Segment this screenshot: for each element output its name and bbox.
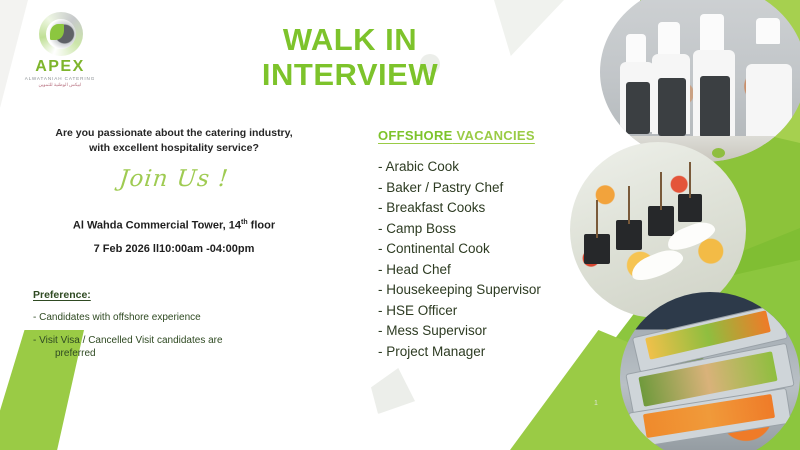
page-title-line2: INTERVIEW [210, 57, 490, 92]
vacancies-section: OFFSHORE VACANCIES - Arabic Cook - Baker… [378, 128, 608, 362]
logo-tagline-arabic: ابيكس الوطنية للتموين [18, 82, 102, 88]
intro-text: Are you passionate about the catering in… [24, 126, 324, 156]
intro-line-2: with excellent hospitality service? [24, 141, 324, 156]
logo-tagline: ALWATANIAH CATERING [18, 76, 102, 81]
list-item: - Continental Cook [378, 239, 608, 260]
slide-canvas: APEX ALWATANIAH CATERING ابيكس الوطنية ل… [0, 0, 800, 450]
page-title-line1: WALK IN [210, 22, 490, 57]
vacancies-title-bold: OFFSHORE [378, 128, 453, 143]
page-number: 1 [594, 400, 598, 407]
logo-wordmark: APEX [18, 59, 102, 75]
list-item: - Mess Supervisor [378, 321, 608, 342]
preference-title: Preference: [33, 289, 323, 301]
preference-item: - Visit Visa / Cancelled Visit candidate… [33, 334, 323, 360]
venue-ordinal: th [241, 219, 248, 226]
list-item: - Project Manager [378, 342, 608, 363]
chefs-photo [600, 0, 800, 162]
apex-logo: APEX ALWATANIAH CATERING ابيكس الوطنية ل… [18, 12, 102, 96]
preference-item: - Candidates with offshore experience [33, 311, 323, 324]
preference-section: Preference: - Candidates with offshore e… [33, 289, 323, 360]
vacancies-title: OFFSHORE VACANCIES [378, 128, 608, 143]
apex-logo-mark [31, 12, 89, 58]
list-item: - Camp Boss [378, 219, 608, 240]
list-item: - HSE Officer [378, 301, 608, 322]
decorative-grey-triangle [371, 368, 415, 414]
vacancies-list: - Arabic Cook - Baker / Pastry Chef - Br… [378, 157, 608, 362]
venue-text: Al Wahda Commercial Tower, 14th floor [24, 219, 324, 232]
list-item: - Baker / Pastry Chef [378, 178, 608, 199]
list-item: - Arabic Cook [378, 157, 608, 178]
preference-item-line1: - Visit Visa / Cancelled Visit candidate… [33, 335, 223, 346]
decorative-grey-corner [494, 0, 564, 56]
venue-main: Al Wahda Commercial Tower, 14 [73, 220, 241, 232]
list-item: - Breakfast Cooks [378, 198, 608, 219]
preference-item-line2: preferred [33, 347, 323, 360]
list-item: - Housekeeping Supervisor [378, 280, 608, 301]
page-title: WALK IN INTERVIEW [210, 22, 490, 92]
join-us-text: Join Us ! [23, 166, 326, 192]
datetime-text: 7 Feb 2026 ll10:00am -04:00pm [24, 243, 324, 255]
list-item: - Head Chef [378, 260, 608, 281]
vacancies-title-light: VACANCIES [453, 128, 535, 143]
buffet-photo [620, 292, 800, 450]
intro-line-1: Are you passionate about the catering in… [24, 126, 324, 141]
venue-tail: floor [248, 220, 276, 232]
